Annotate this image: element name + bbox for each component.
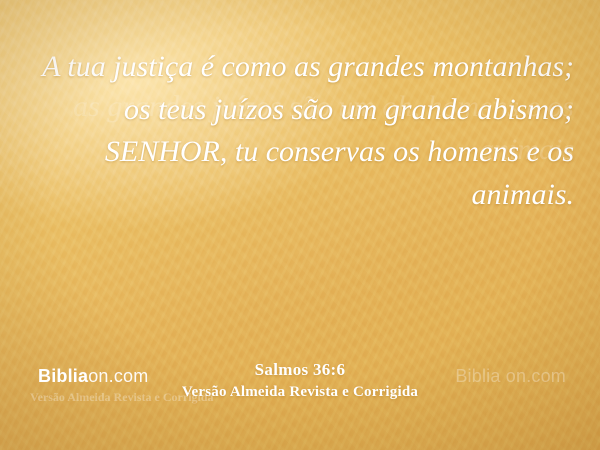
site-brand-bold: Biblia [38, 366, 88, 386]
site-brand-ghost: Biblia on.com [455, 366, 566, 387]
verse-image-card: as grandes juízos são um oh, homens e os… [0, 0, 600, 450]
verse-text: A tua justiça é como as grandes montanha… [28, 46, 574, 216]
site-brand: Bibliaon.com [38, 366, 148, 387]
card-footer: Salmos 36:6 Versão Almeida Revista e Cor… [0, 360, 600, 432]
bible-version-label-ghost: Versão Almeida Revista e Corrigida [30, 390, 214, 405]
site-brand-light: on.com [88, 366, 148, 386]
